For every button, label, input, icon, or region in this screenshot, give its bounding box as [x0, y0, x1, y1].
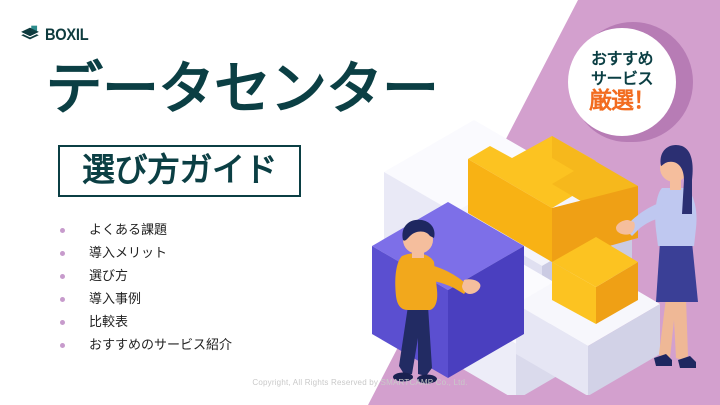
- bullet-dot-icon: [60, 228, 65, 233]
- logo-wordmark: BOXIL: [45, 26, 88, 43]
- bullet-dot-icon: [60, 297, 65, 302]
- list-item-label: 選び方: [89, 270, 128, 283]
- slide-canvas: BOXIL データセンター 選び方ガイド よくある課題 導入メリット 選び方 導…: [0, 0, 720, 405]
- isometric-illustration: [366, 110, 720, 395]
- copyright-footer: Copyright, All Rights Reserved by SMARTC…: [0, 378, 720, 387]
- badge-line-3: 厳選！: [589, 89, 655, 114]
- recommendation-badge: おすすめ サービス 厳選！: [568, 28, 676, 136]
- bullet-dot-icon: [60, 251, 65, 256]
- subtitle-text: 選び方ガイド: [82, 152, 277, 188]
- list-item: 導入メリット: [60, 242, 232, 265]
- list-item-label: 導入事例: [89, 293, 141, 306]
- bullet-dot-icon: [60, 274, 65, 279]
- list-item-label: 導入メリット: [89, 247, 167, 260]
- list-item-label: おすすめのサービス紹介: [89, 339, 232, 352]
- agenda-list: よくある課題 導入メリット 選び方 導入事例 比較表 おすすめのサービス紹介: [60, 219, 232, 357]
- list-item: 比較表: [60, 311, 232, 334]
- bullet-dot-icon: [60, 343, 65, 348]
- list-item: おすすめのサービス紹介: [60, 334, 232, 357]
- list-item-label: よくある課題: [89, 224, 167, 237]
- list-item: 選び方: [60, 265, 232, 288]
- list-item-label: 比較表: [89, 316, 128, 329]
- badge-line-2: サービス: [591, 69, 653, 89]
- badge-circle: おすすめ サービス 厳選！: [568, 28, 676, 136]
- list-item: よくある課題: [60, 219, 232, 242]
- list-item: 導入事例: [60, 288, 232, 311]
- subtitle-box: 選び方ガイド: [58, 145, 301, 197]
- boxil-logo[interactable]: BOXIL: [20, 24, 95, 44]
- badge-line-1: おすすめ: [591, 49, 653, 69]
- stacked-layers-icon: [20, 24, 40, 44]
- bullet-dot-icon: [60, 320, 65, 325]
